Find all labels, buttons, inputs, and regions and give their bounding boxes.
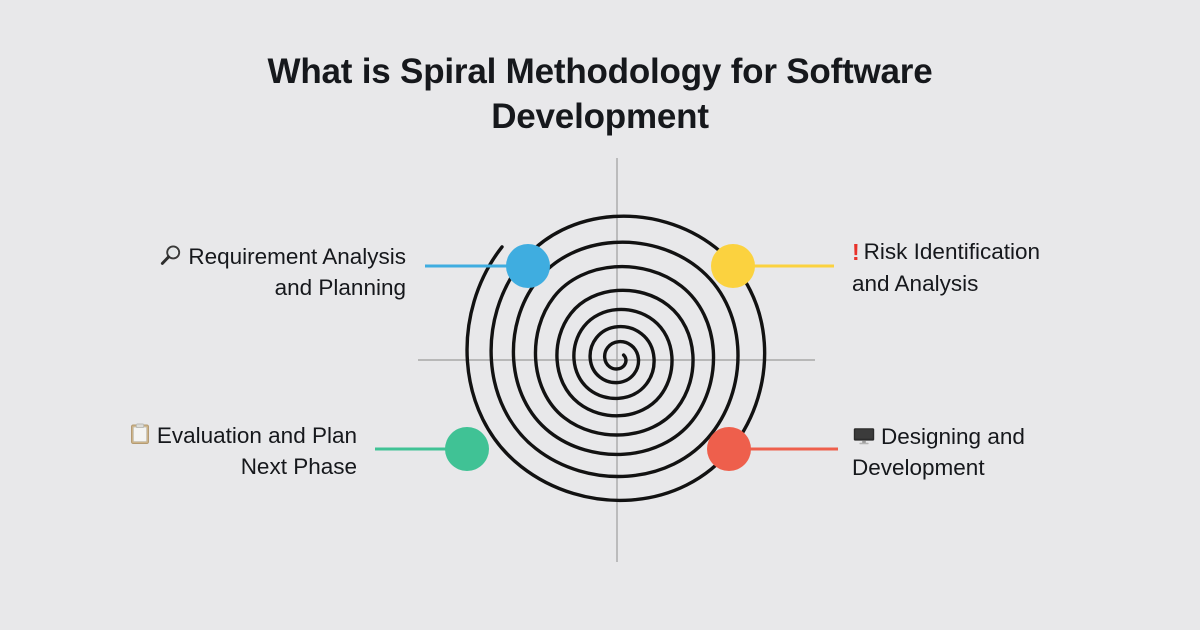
phase-node-designing-development[interactable] xyxy=(707,427,751,471)
phase-node-evaluation-next-phase[interactable] xyxy=(445,427,489,471)
magnifier-icon xyxy=(159,243,183,267)
clipboard-icon xyxy=(128,422,152,446)
spiral-diagram xyxy=(0,0,1200,630)
phase-label-evaluation-next-phase: Evaluation and Plan Next Phase xyxy=(70,421,357,483)
spiral-methodology-infographic: What is Spiral Methodology for Software … xyxy=(0,0,1200,630)
phase-label-requirement-analysis: Requirement Analysis and Planning xyxy=(88,242,406,304)
exclamation-icon: ! xyxy=(852,237,860,269)
phase-label-text: Requirement Analysis and Planning xyxy=(188,244,406,300)
phase-label-risk-identification: !Risk Identification and Analysis xyxy=(852,237,1112,299)
phase-label-designing-development: Designing and Development xyxy=(852,422,1102,484)
phase-label-text: Risk Identification and Analysis xyxy=(852,239,1040,296)
phase-node-requirement-analysis[interactable] xyxy=(506,244,550,288)
phase-label-text: Evaluation and Plan Next Phase xyxy=(157,423,357,479)
phase-label-text: Designing and Development xyxy=(852,424,1025,480)
monitor-icon xyxy=(852,423,876,447)
phase-node-risk-identification[interactable] xyxy=(711,244,755,288)
